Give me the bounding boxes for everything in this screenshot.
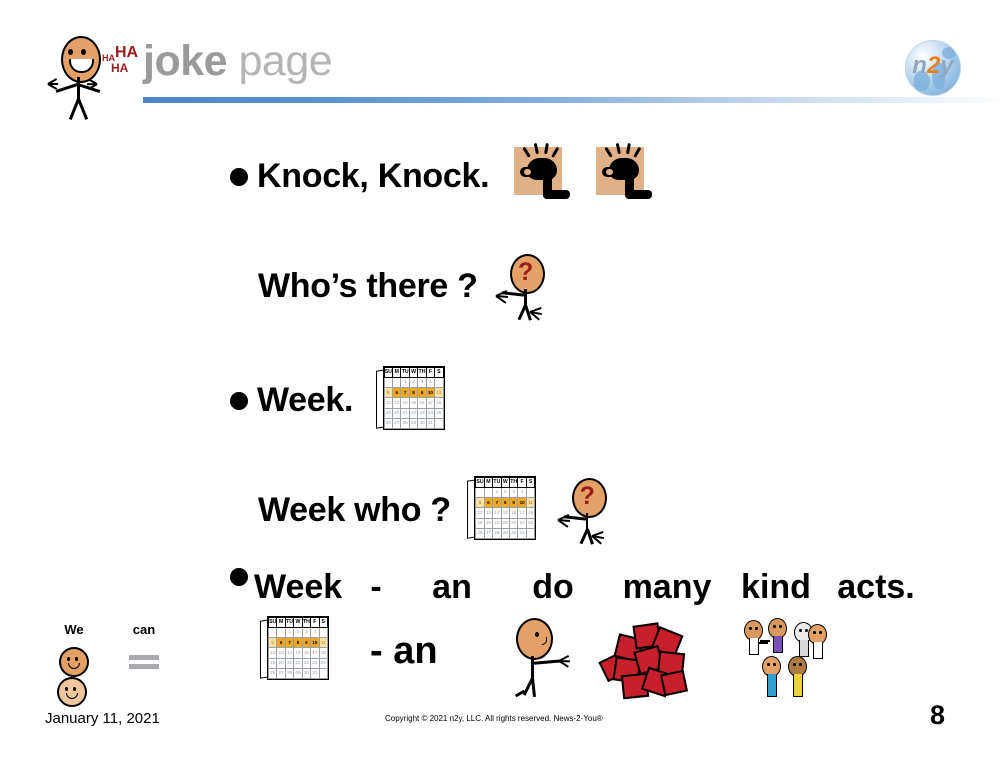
page-title: joke page xyxy=(143,40,332,83)
people-helping-icon xyxy=(742,616,828,701)
logo-text: n2y xyxy=(905,54,961,78)
bullet-icon xyxy=(230,568,248,586)
n2y-logo[interactable]: n2y xyxy=(905,40,961,96)
question-person-icon: ? xyxy=(492,253,552,320)
knock-door-icon-2 xyxy=(592,143,654,210)
bullet-icon xyxy=(230,168,248,186)
joke-line-text: Who’s there ? xyxy=(258,267,478,306)
laughing-person-icon: HA HA HA xyxy=(45,33,137,111)
person-pointing-icon xyxy=(502,616,562,699)
punchline-word: do xyxy=(498,568,608,607)
joke-line-text: Knock, Knock. xyxy=(257,157,489,196)
header-divider xyxy=(143,97,1000,103)
punchline-words: Week-andomanykindacts. xyxy=(230,568,930,612)
punchline-word: Week xyxy=(254,568,346,607)
logo-letter-y: y xyxy=(940,52,953,79)
joke-line-week: Week. SUMTUWTHFS123456789101112131415161… xyxy=(230,366,444,435)
punchline-word: kind xyxy=(726,568,826,607)
calendar-week-icon: SUMTUWTHFS123456789101112131415161718192… xyxy=(467,476,535,545)
page-number: 8 xyxy=(930,700,945,731)
page-header: HA HA HA joke page n2y xyxy=(0,0,1000,115)
punchline-word: acts. xyxy=(826,568,926,607)
knock-door-icon xyxy=(510,143,572,210)
punchline-word: an xyxy=(406,568,498,607)
calendar-week-icon: SUMTUWTHFS123456789101112131415161718192… xyxy=(260,616,328,685)
logo-digit-2: 2 xyxy=(927,52,940,79)
punchline-symbols: SUMTUWTHFS123456789101112131415161718192… xyxy=(230,612,930,704)
joke-line-text: Week. xyxy=(257,381,353,420)
two-faces-icon xyxy=(59,659,89,706)
ha-text-medium: HA xyxy=(111,61,128,75)
footer-date: January 11, 2021 xyxy=(45,710,160,727)
question-person-icon: ? xyxy=(554,477,614,544)
ha-text-large: HA xyxy=(115,44,138,62)
logo-letter-n: n xyxy=(912,52,927,79)
can-symbol-group: can xyxy=(118,622,170,678)
many-red-squares-icon xyxy=(600,618,696,703)
joke-line-punchline: Week-andomanykindacts. SUMTUWTHFS1234567… xyxy=(230,568,930,704)
joke-line-text: Week who ? xyxy=(258,491,451,530)
we-label: We xyxy=(48,622,100,637)
punchline-word: many xyxy=(608,568,726,607)
footer-copyright: Copyright © 2021 n2y, LLC. All rights re… xyxy=(385,714,603,723)
can-bars-icon xyxy=(129,647,159,673)
dash-an-text: - an xyxy=(370,630,438,673)
we-can-legend: We can xyxy=(48,622,178,694)
punchline-word: - xyxy=(346,568,406,607)
we-symbol-group: We xyxy=(48,622,100,707)
page-title-light: page xyxy=(239,37,333,85)
bullet-icon xyxy=(230,392,248,410)
joke-line-whos-there: Who’s there ? ? xyxy=(258,253,552,320)
calendar-week-icon: SUMTUWTHFS123456789101112131415161718192… xyxy=(376,366,444,435)
joke-line-knock: Knock, Knock. xyxy=(230,143,654,210)
page-title-bold: joke xyxy=(143,37,227,85)
joke-line-week-who: Week who ? SUMTUWTHFS1234567891011121314… xyxy=(258,476,614,545)
slide-page: HA HA HA joke page n2y Knock, Knock. xyxy=(0,0,1000,772)
can-label: can xyxy=(118,622,170,637)
